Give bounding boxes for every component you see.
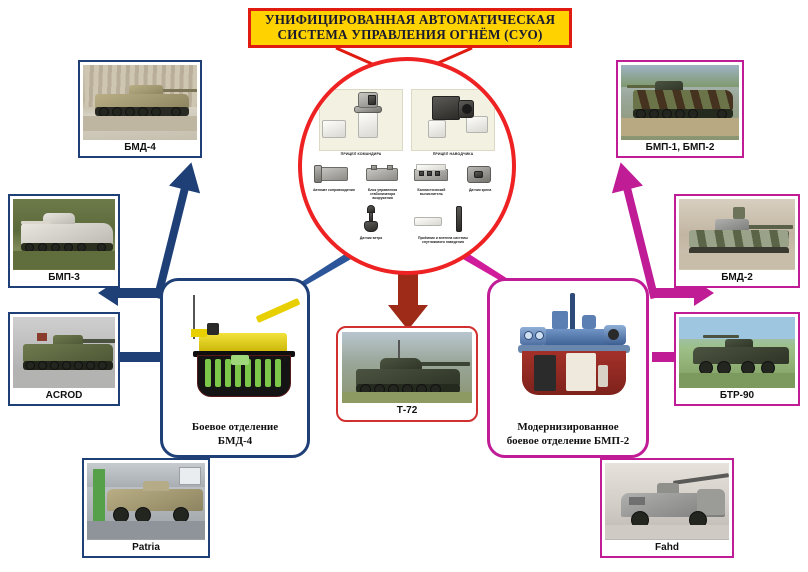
wind-sensor-icon [340,204,402,234]
card-bmd2[interactable]: БМД-2 [674,194,800,288]
gunner-sight-cell: ПРИЦЕЛ НАВОДЧИКА [411,89,495,156]
card-bmp3[interactable]: БМП-3 [8,194,120,288]
bmp3-photo [13,199,115,270]
tracking-unit-icon [312,161,356,186]
stabilizer-control-unit-icon [361,161,405,186]
bmp2-turret-illustration [496,289,640,418]
page-title: УНИФИЦИРОВАННАЯ АВТОМАТИЧЕСКАЯ СИСТЕМА У… [248,8,572,48]
modules-row: Автомат сопровождения Блок управления ст… [312,161,502,200]
diagram-canvas: УНИФИЦИРОВАННАЯ АВТОМАТИЧЕСКАЯ СИСТЕМА У… [0,0,808,572]
ballistic-computer-caption: Баллистический вычислитель [410,188,454,197]
node-t72[interactable]: Т-72 [336,326,478,422]
bmd2-photo [679,199,795,270]
card-fahd[interactable]: Fahd [600,458,734,558]
title-line-1: УНИФИЦИРОВАННАЯ АВТОМАТИЧЕСКАЯ [265,13,555,28]
commander-sight-cell: ПРИЦЕЛ КОМАНДИРА [319,89,403,156]
commander-sight-icon [319,89,403,151]
bmp3-label: БМП-3 [13,270,115,283]
tilt-sensor-caption: Датчик крена [469,188,491,192]
satellite-receiver-icon [412,204,474,234]
patria-label: Patria [87,540,205,553]
wind-sensor-cell: Датчик ветра [340,204,402,240]
gunner-sight-icon [411,89,495,151]
btr90-label: БТР-90 [679,388,795,401]
bmp1-bmp2-label: БМП-1, БМП-2 [621,140,739,153]
bmp1-bmp2-photo [621,65,739,140]
btr90-photo [679,317,795,388]
satellite-receiver-caption: Приёмник и антенна системы спутникового … [412,236,474,245]
sights-row: ПРИЦЕЛ КОМАНДИРА ПРИЦЕЛ НАВОДЧИКА [312,89,502,156]
left-module-caption: Боевое отделение БМД-4 [192,418,278,448]
satellite-receiver-cell: Приёмник и антенна системы спутникового … [412,204,474,244]
card-btr90[interactable]: БТР-90 [674,312,800,406]
t72-label: Т-72 [342,403,472,416]
stabilizer-control-unit-cell: Блок управления стабилизатора вооружения [361,161,405,200]
bmd4-turret-illustration [169,289,301,418]
fahd-photo [605,463,729,540]
ballistic-computer-cell: Баллистический вычислитель [410,161,454,200]
right-module-caption: Модернизированное боевое отделение БМП-2 [507,418,630,448]
card-patria[interactable]: Patria [82,458,210,558]
tracking-unit-cell: Автомат сопровождения [312,161,356,200]
gunner-sight-caption: ПРИЦЕЛ НАВОДЧИКА [411,152,495,156]
fahd-label: Fahd [605,540,729,553]
commander-sight-caption: ПРИЦЕЛ КОМАНДИРА [319,152,403,156]
stabilizer-control-unit-caption: Блок управления стабилизатора вооружения [361,188,405,201]
card-bmp1-bmp2[interactable]: БМП-1, БМП-2 [616,60,744,158]
bmd4-label: БМД-4 [83,140,197,153]
tilt-sensor-cell: Датчик крена [458,161,502,200]
t72-photo [342,332,472,403]
title-line-2: СИСТЕМА УПРАВЛЕНИЯ ОГНЁМ (СУО) [277,28,542,43]
sensors-row: Датчик ветра Приёмник и антенна системы … [312,204,502,244]
ballistic-computer-icon [410,161,454,186]
patria-photo [87,463,205,540]
module-bmd4-combat-compartment[interactable]: Боевое отделение БМД-4 [160,278,310,458]
module-bmp2-modernized-compartment[interactable]: Модернизированное боевое отделение БМП-2 [487,278,649,458]
bmd4-photo [83,65,197,140]
wind-sensor-caption: Датчик ветра [360,236,382,240]
card-bmd4[interactable]: БМД-4 [78,60,202,158]
card-acrod[interactable]: ACROD [8,312,120,406]
acrod-photo [13,317,115,388]
right-module-line-2: боевое отделение БМП-2 [507,435,630,447]
tilt-sensor-icon [458,161,502,186]
left-module-line-2: БМД-4 [218,435,252,447]
acrod-label: ACROD [13,388,115,401]
left-module-line-1: Боевое отделение [192,421,278,433]
fire-control-system-circle: ПРИЦЕЛ КОМАНДИРА ПРИЦЕЛ НАВОДЧИКА [298,57,516,275]
right-module-line-1: Модернизированное [517,421,618,433]
bmd2-label: БМД-2 [679,270,795,283]
tracking-unit-caption: Автомат сопровождения [313,188,355,192]
